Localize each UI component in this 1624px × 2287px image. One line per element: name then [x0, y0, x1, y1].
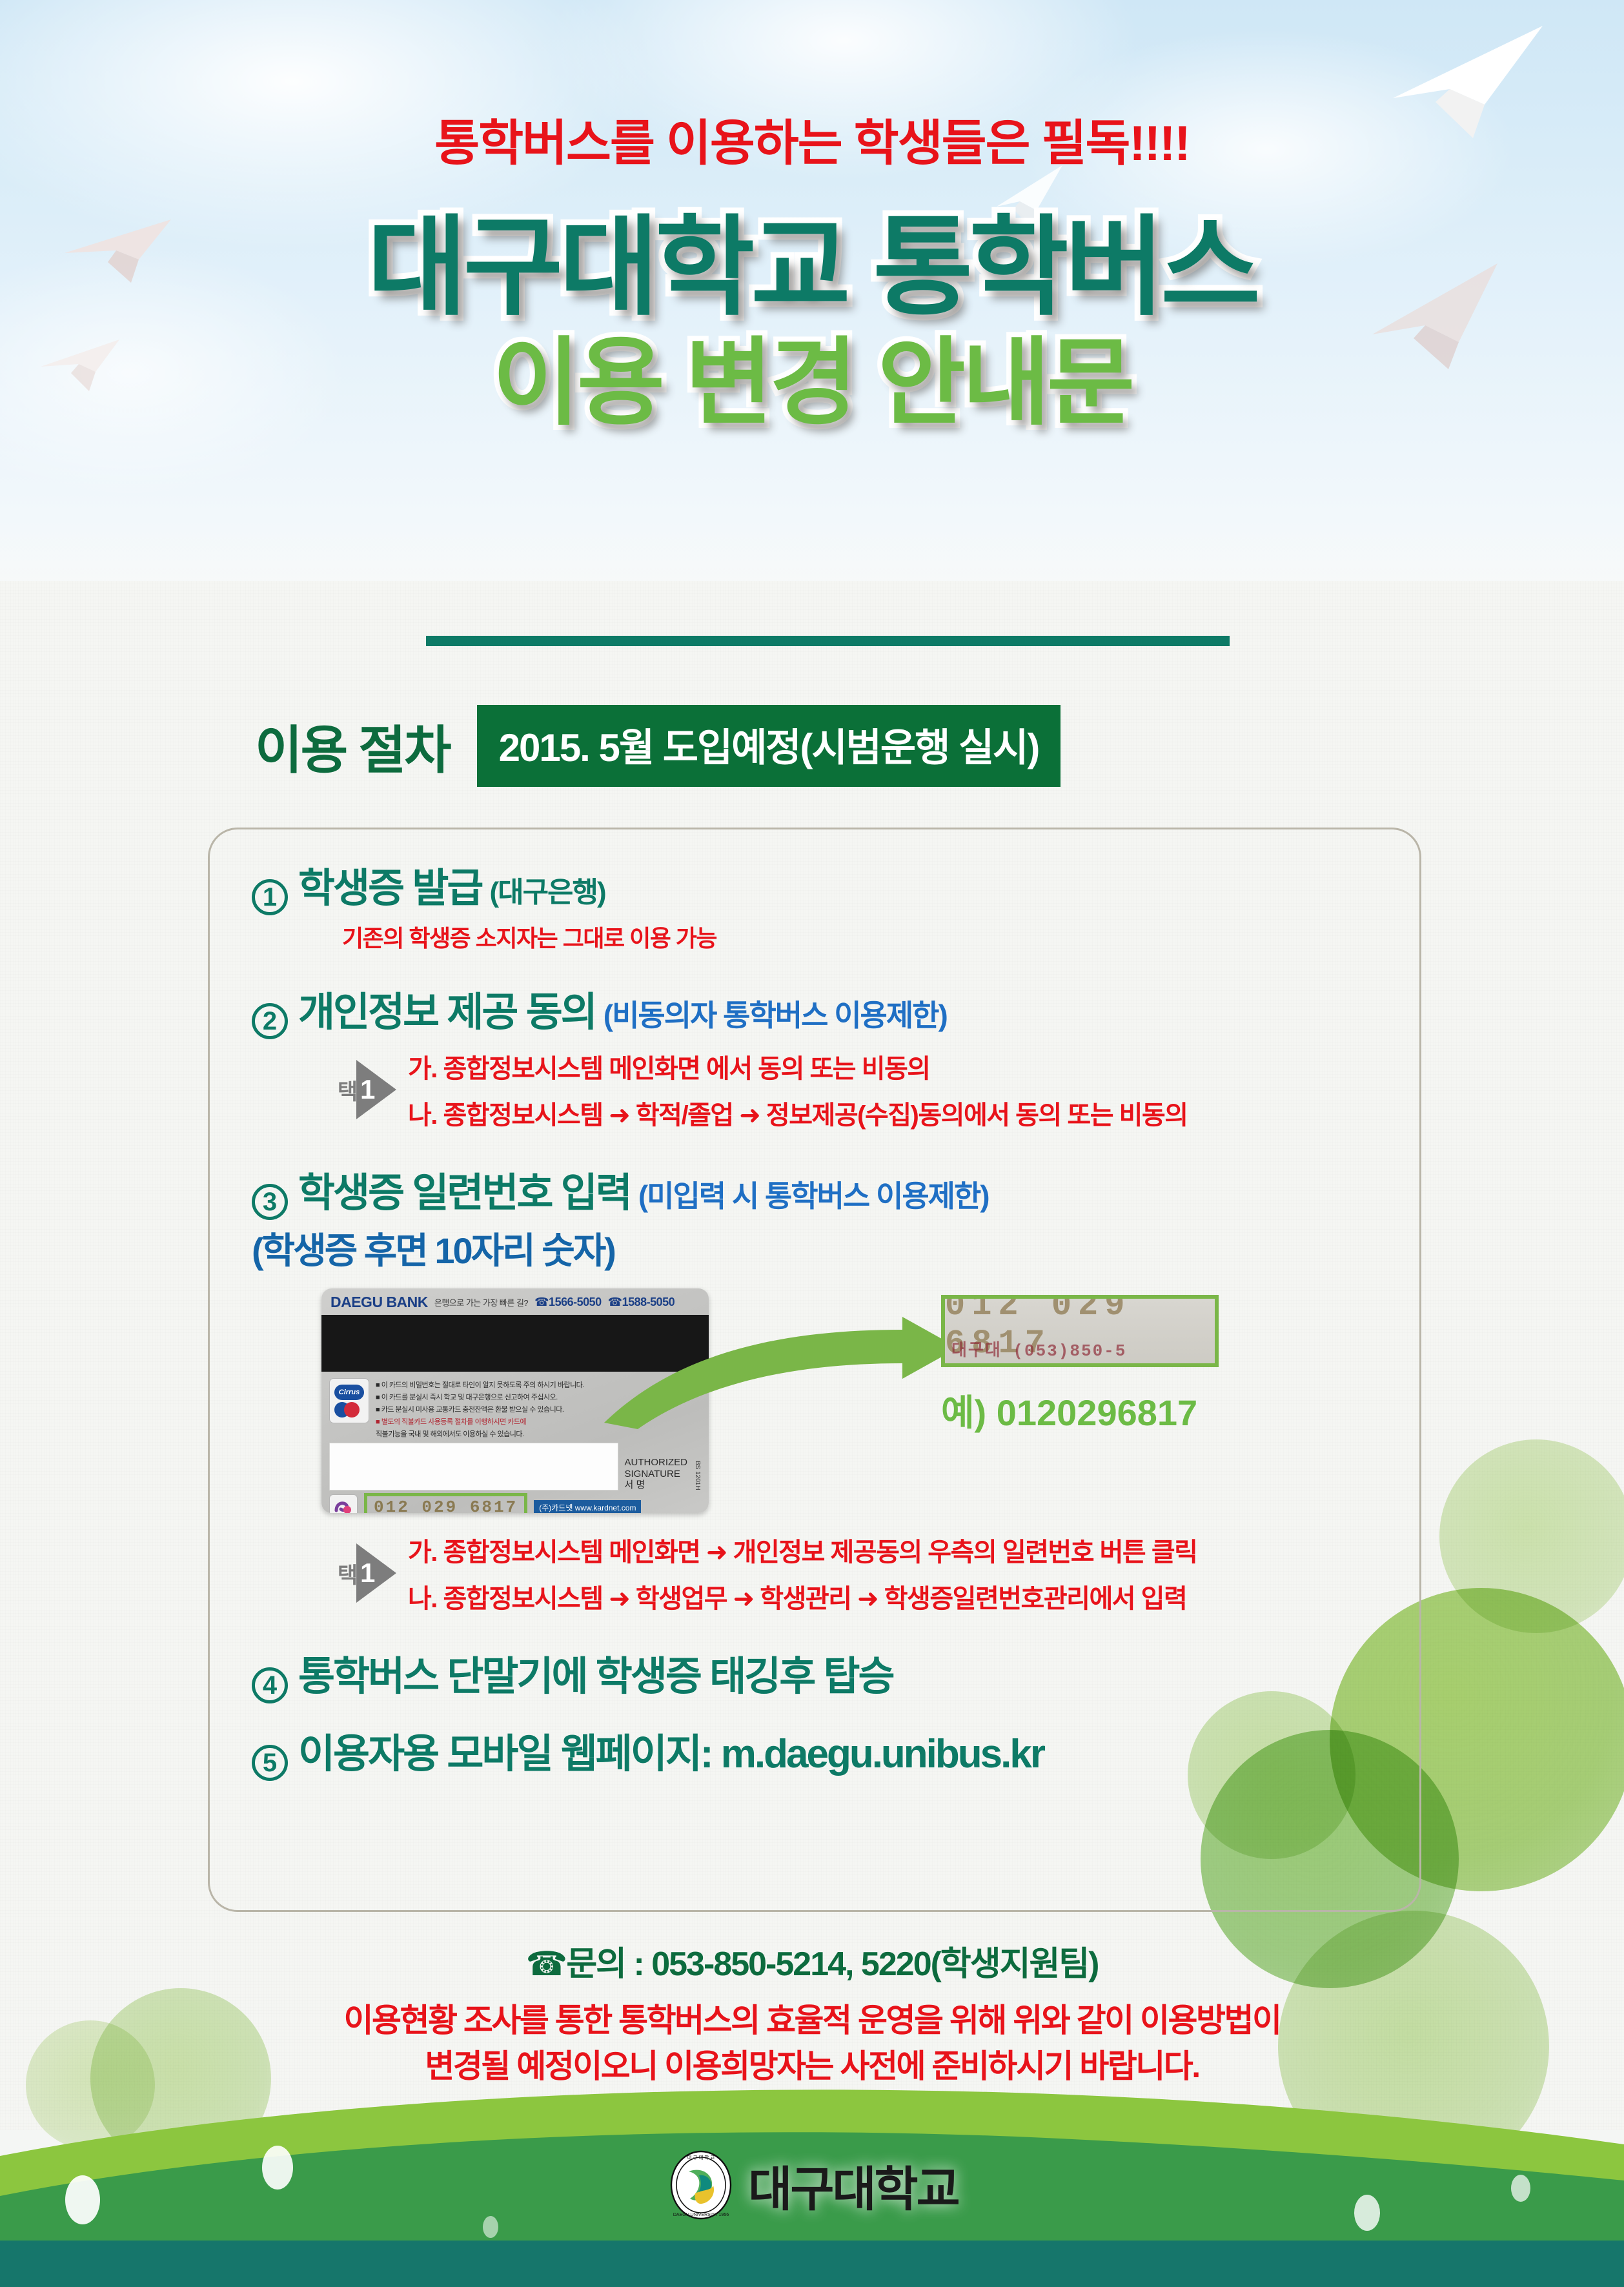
university-name-text: 대구대학교 — [748, 2151, 958, 2220]
step-item-2: 2 개인정보 제공 동의 (비동의자 통학버스 이용제한) 택 1 가. 종합정… — [252, 979, 1414, 1132]
callout-serial-sub: 대구대 (053)850-5 — [951, 1337, 1208, 1361]
step-title-1: 학생증 발급 — [298, 855, 482, 913]
step-title-2: 개인정보 제공 동의 — [298, 979, 596, 1037]
kardnet-url: www.kardnet.com — [575, 1503, 636, 1512]
step-title-4: 통학버스 단말기에 학생증 태깅후 탑승 — [298, 1643, 893, 1702]
serial-example-text: 예) 0120296817 — [941, 1384, 1219, 1436]
pick-option-3b: 나. 종합정보시스템 ➜ 학생업무 ➜ 학생관리 ➜ 학생증일련번호관리에서 입… — [408, 1578, 1197, 1615]
pick-one-marker: 택 1 — [334, 1543, 396, 1603]
title-line-1: 대구대학교 통학버스 — [0, 213, 1624, 321]
green-arrow-icon — [599, 1314, 960, 1434]
step-item-4: 4 통학버스 단말기에 학생증 태깅후 탑승 — [252, 1643, 1414, 1702]
step-paren-2: (비동의자 통학버스 이용제한) — [604, 992, 947, 1035]
student-card-figure: DAEGU BANK 은행으로 가는 가장 빠른 길? ☎1566-5050 ☎… — [321, 1288, 1414, 1514]
pick-one-group-3: 택 1 가. 종합정보시스템 메인화면 ➜ 개인정보 제공동의 우측의 일련번호… — [334, 1531, 1414, 1615]
serial-callout-box: 012 029 6817 대구대 (053)850-5 — [941, 1295, 1219, 1367]
section-label: 이용 절차 — [255, 709, 450, 784]
poster-root: 통학버스를 이용하는 학생들은 필독!!!! 대구대학교 통학버스 이용 변경 … — [0, 0, 1624, 2287]
step-title-5: 이용자용 모바일 웹페이지: m.daegu.unibus.kr — [298, 1721, 1044, 1779]
watercolor-blob — [1439, 1439, 1624, 1633]
signature-line: SIGNATURE — [625, 1469, 688, 1479]
cirrus-label: Cirrus — [334, 1385, 364, 1400]
pick-option-2a: 가. 종합정보시스템 메인화면 에서 동의 또는 비동의 — [408, 1048, 1188, 1085]
card-phone-2: ☎1588-5050 — [608, 1296, 675, 1309]
pick-one-group-2: 택 1 가. 종합정보시스템 메인화면 에서 동의 또는 비동의 나. 종합정보… — [334, 1048, 1414, 1132]
headline-text: 통학버스를 이용하는 학생들은 필독!!!! — [0, 103, 1624, 174]
step-item-3: 3 학생증 일련번호 입력 (미입력 시 통학버스 이용제한) (학생증 후면 … — [252, 1160, 1414, 1615]
card-brand-label: DAEGU BANK — [330, 1294, 428, 1311]
svg-text:DAEGU UNIVERSITY 1956: DAEGU UNIVERSITY 1956 — [673, 2213, 729, 2217]
section-header: 이용 절차 2015. 5월 도입예정(시범운행 실시) — [255, 705, 1061, 787]
title-line-2: 이용 변경 안내문 — [0, 336, 1624, 431]
step-paren-3: (미입력 시 통학버스 이용제한) — [638, 1173, 989, 1215]
kardnet-name: (주)카드넷 — [539, 1503, 573, 1512]
step-number-3: 3 — [252, 1184, 288, 1220]
section-banner: 2015. 5월 도입예정(시범운행 실시) — [477, 705, 1061, 787]
step-paren-1: (대구은행) — [489, 869, 605, 910]
step-number-5: 5 — [252, 1745, 288, 1781]
divider-rule — [426, 636, 1230, 646]
university-seal-icon: 대 구 대 학 교 DAEGU UNIVERSITY 1956 — [665, 2150, 736, 2221]
step-item-5: 5 이용자용 모바일 웹페이지: m.daegu.unibus.kr — [252, 1721, 1414, 1779]
pick-number-2: 1 — [360, 1076, 375, 1103]
footer-strip — [0, 2241, 1624, 2287]
pick-option-2b: 나. 종합정보시스템 ➜ 학적/졸업 ➜ 정보제공(수집)동의에서 동의 또는 … — [408, 1094, 1188, 1132]
pick-triangle-icon: 1 — [356, 1543, 396, 1603]
authorized-line: AUTHORIZED — [625, 1457, 688, 1468]
step-number-2: 2 — [252, 1003, 288, 1039]
pick-number-3: 1 — [360, 1560, 375, 1587]
step-number-4: 4 — [252, 1667, 288, 1703]
card-vertical-code: BS 1201H — [694, 1461, 701, 1490]
step-title-3: 학생증 일련번호 입력 — [298, 1160, 631, 1218]
pick-option-3a: 가. 종합정보시스템 메인화면 ➜ 개인정보 제공동의 우측의 일련번호 버튼 … — [408, 1531, 1197, 1569]
notice-line-1: 이용현황 조사를 통한 통학버스의 효율적 운영을 위해 위와 같이 이용방법이 — [0, 1998, 1624, 2044]
step-item-1: 1 학생증 발급 (대구은행) 기존의 학생증 소지자는 그대로 이용 가능 — [252, 855, 1414, 953]
pick-label-3: 택 — [334, 1563, 356, 1583]
contact-line: ☎문의 : 053-850-5214, 5220(학생지원팀) — [0, 1936, 1624, 1985]
signature-korean: 서 명 — [625, 1479, 688, 1490]
kardnet-badge: (주)카드넷 www.kardnet.com — [534, 1500, 641, 1514]
transit-card-logo-icon — [329, 1494, 358, 1513]
university-logo: 대 구 대 학 교 DAEGU UNIVERSITY 1956 대구대학교 — [0, 2150, 1624, 2221]
main-title: 대구대학교 통학버스 이용 변경 안내문 — [0, 213, 1624, 431]
procedure-steps: 1 학생증 발급 (대구은행) 기존의 학생증 소지자는 그대로 이용 가능 2… — [252, 855, 1414, 1779]
card-tagline: 은행으로 가는 가장 빠른 길? — [434, 1296, 528, 1308]
maestro-icon — [334, 1402, 364, 1418]
svg-text:대 구 대 학 교: 대 구 대 학 교 — [687, 2154, 715, 2160]
step-note-1: 기존의 학생증 소지자는 그대로 이용 가능 — [342, 920, 1414, 953]
pick-triangle-icon: 1 — [356, 1060, 396, 1119]
card-serial-highlight: 012 029 6817 — [364, 1493, 527, 1513]
step-subtitle-3: (학생증 후면 10자리 숫자) — [252, 1222, 1414, 1274]
pick-one-marker: 택 1 — [334, 1060, 396, 1119]
step-number-1: 1 — [252, 879, 288, 915]
authorized-signature-label: AUTHORIZED SIGNATURE 서 명 — [625, 1457, 688, 1490]
serial-callout: 012 029 6817 대구대 (053)850-5 예) 012029681… — [941, 1295, 1219, 1436]
pick-label-2: 택 — [334, 1080, 356, 1099]
card-phone-1: ☎1566-5050 — [534, 1296, 602, 1309]
signature-panel — [329, 1443, 618, 1490]
cirrus-maestro-logo-icon: Cirrus — [329, 1378, 369, 1423]
